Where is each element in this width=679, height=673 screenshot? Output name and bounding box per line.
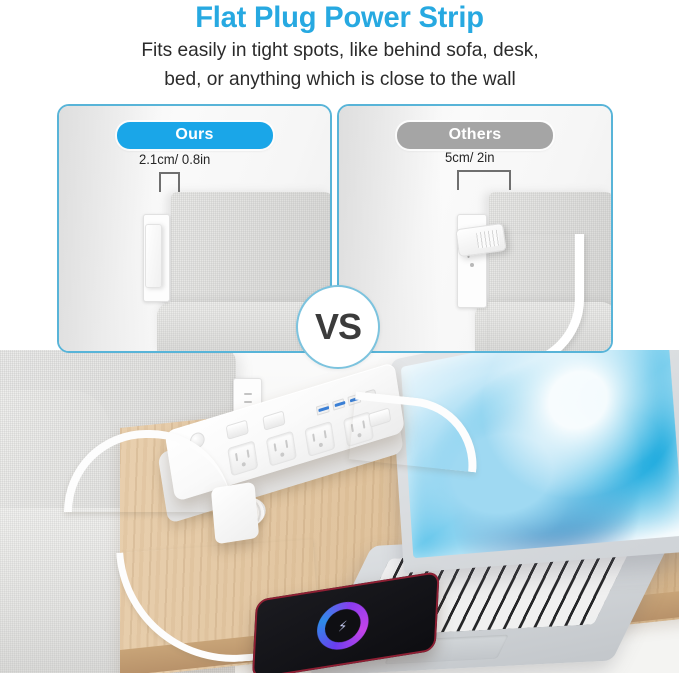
badge-ours: Ours	[117, 122, 273, 149]
outlet-socket	[227, 440, 258, 476]
plug-ridges	[476, 230, 500, 249]
bulky-plug-cord	[489, 234, 584, 351]
usb-a-port	[316, 403, 330, 416]
outlet-switch	[262, 410, 285, 430]
product-infographic: Flat Plug Power Strip Fits easily in tig…	[0, 0, 679, 673]
measure-bracket-others	[457, 170, 511, 190]
outlet-socket	[266, 431, 297, 467]
page-title: Flat Plug Power Strip	[10, 0, 669, 34]
wall-adapter	[211, 482, 259, 545]
header: Flat Plug Power Strip Fits easily in tig…	[0, 0, 679, 98]
outlet-switch	[226, 420, 249, 440]
outlet-socket	[304, 421, 335, 457]
measure-bracket-ours	[159, 172, 180, 192]
measurement-label-ours: 2.1cm/ 0.8in	[139, 152, 210, 167]
charging-ring: ⚡	[316, 598, 370, 653]
vs-badge: VS	[296, 285, 380, 369]
usb-a-port	[332, 398, 346, 411]
subtitle-line-2: bed, or anything which is close to the w…	[46, 67, 634, 92]
subtitle-line-1: Fits easily in tight spots, like behind …	[46, 38, 634, 63]
lightning-bolt-icon: ⚡	[338, 618, 348, 633]
badge-others: Others	[397, 122, 553, 149]
measurement-label-others: 5cm/ 2in	[445, 150, 495, 165]
sofa-backrest	[171, 192, 330, 310]
comparison-section: 2.1cm/ 0.8in Ours 5cm/ 2in	[0, 104, 679, 350]
flat-plug	[145, 224, 162, 288]
comparison-panel-ours: 2.1cm/ 0.8in Ours	[57, 104, 332, 353]
